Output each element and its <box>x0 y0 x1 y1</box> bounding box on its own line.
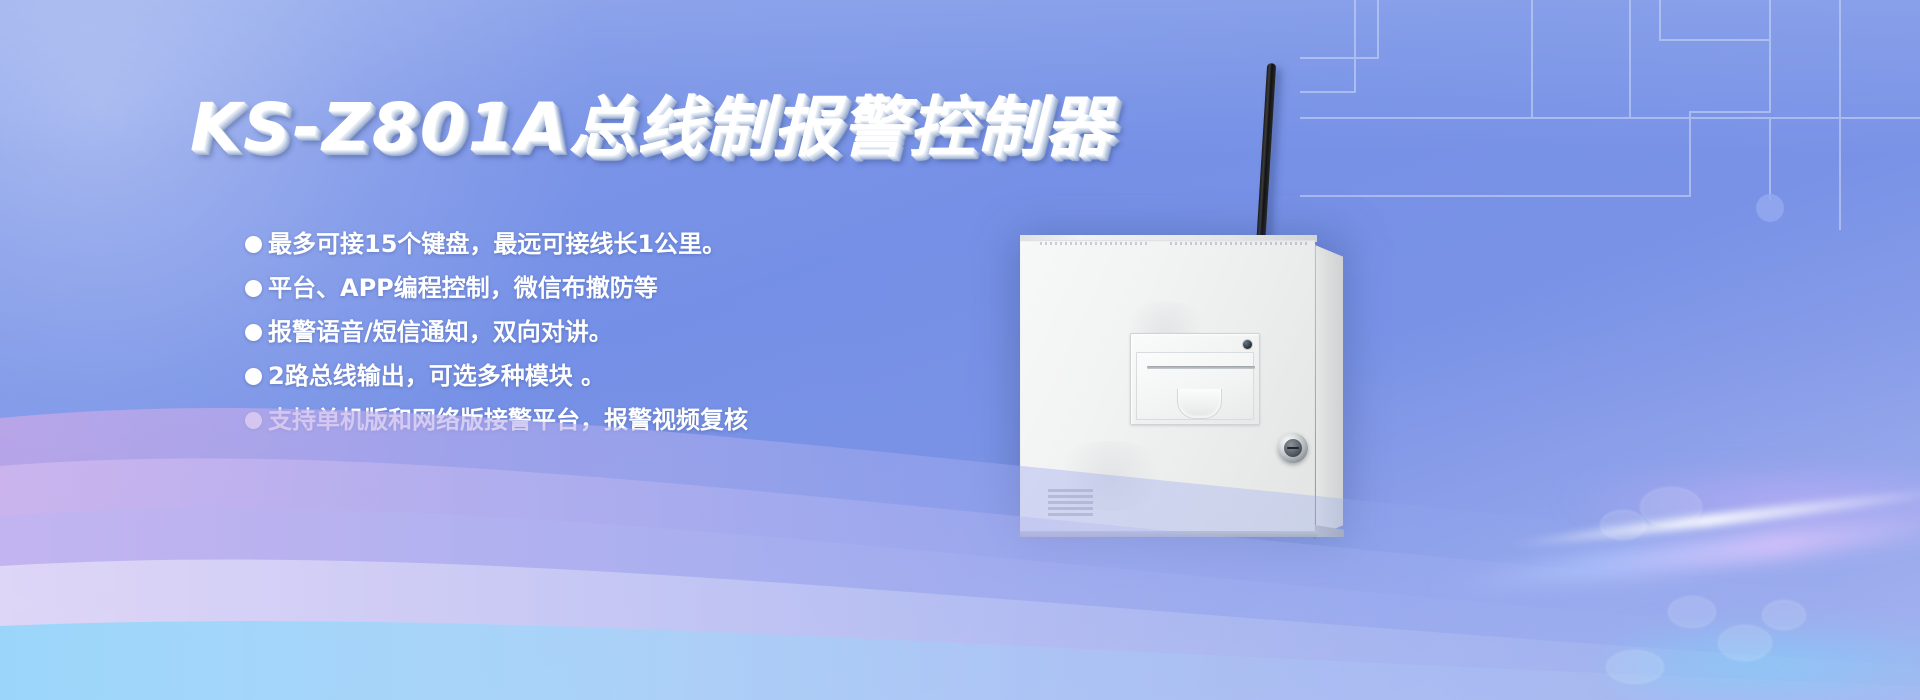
bokeh-circles <box>1668 596 1716 628</box>
stencil-mark <box>1170 242 1310 245</box>
bokeh-circles <box>1640 487 1702 527</box>
list-item: 报警语音/短信通知，双向对讲。 <box>245 320 1065 344</box>
promo-banner: KS-Z801A总线制报警控制器 最多可接15个键盘，最远可接线长1公里。 平台… <box>0 0 1920 700</box>
bullet-dot-icon <box>245 324 262 341</box>
feature-text: 平台、APP编程控制，微信布撤防等 <box>268 276 658 300</box>
bullet-dot-icon <box>245 236 262 253</box>
feature-text: 最多可接15个键盘，最远可接线长1公里。 <box>268 232 726 256</box>
list-item: 平台、APP编程控制，微信布撤防等 <box>245 276 1065 300</box>
status-led <box>1243 340 1252 349</box>
bokeh-circles <box>1718 625 1772 661</box>
bokeh-circles <box>1762 600 1806 630</box>
page-title: KS-Z801A总线制报警控制器 <box>190 74 1113 170</box>
bokeh-circles <box>1606 650 1664 684</box>
stencil-mark <box>1040 242 1150 245</box>
antenna-rod <box>1255 63 1276 263</box>
list-item: 最多可接15个键盘，最远可接线长1公里。 <box>245 232 1065 256</box>
pcb-node-dot <box>1756 194 1784 222</box>
paper-slot <box>1147 366 1255 369</box>
bokeh-circles <box>1600 510 1646 540</box>
bullet-dot-icon <box>245 280 262 297</box>
feature-text: 报警语音/短信通知，双向对讲。 <box>268 320 613 344</box>
